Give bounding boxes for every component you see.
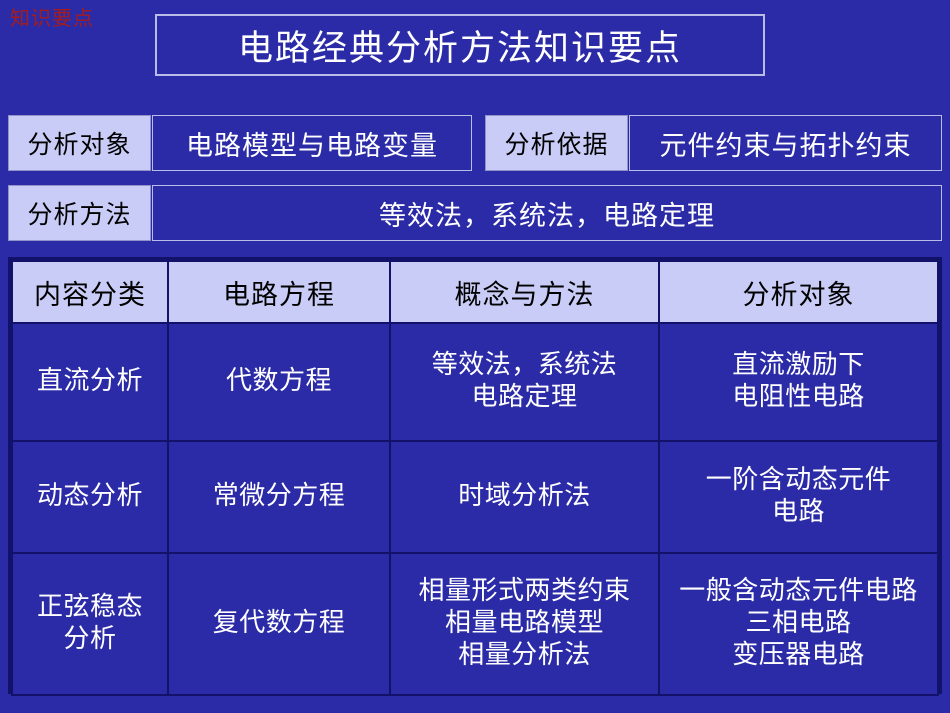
info-row-analysis-method: 分析方法 等效法，系统法，电路定理 — [8, 185, 942, 241]
cell-sinusoidal-object: 一般含动态元件电路三相电路变压器电路 — [659, 553, 938, 695]
info-label-analysis-basis: 分析依据 — [485, 115, 628, 171]
cell-line: 直流激励下 — [662, 350, 935, 382]
table-header-analysis-object: 分析对象 — [659, 261, 938, 323]
corner-tag-label: 知识要点 — [10, 6, 94, 30]
cell-line: 电路定理 — [393, 382, 656, 414]
table-header-concepts-methods: 概念与方法 — [390, 261, 659, 323]
cell-line: 电路 — [662, 497, 935, 529]
cell-dynamic-equation: 常微分方程 — [168, 441, 390, 553]
info-value-analysis-object: 电路模型与电路变量 — [152, 115, 472, 171]
cell-line: 分析 — [15, 624, 165, 656]
cell-dc-methods: 等效法，系统法电路定理 — [390, 323, 659, 441]
table-header-row: 内容分类 电路方程 概念与方法 分析对象 — [12, 261, 938, 323]
cell-dynamic-category: 动态分析 — [12, 441, 168, 553]
cell-line: 正弦稳态 — [15, 592, 165, 624]
cell-line: 三相电路 — [662, 608, 935, 640]
cell-line: 相量分析法 — [393, 640, 656, 672]
info-value-analysis-basis: 元件约束与拓扑约束 — [629, 115, 942, 171]
table-header-content-category: 内容分类 — [12, 261, 168, 323]
cell-line: 等效法，系统法 — [393, 350, 656, 382]
table-row: 正弦稳态分析 复代数方程 相量形式两类约束相量电路模型相量分析法 一般含动态元件… — [12, 553, 938, 695]
cell-line: 代数方程 — [171, 366, 387, 398]
info-row-analysis-object: 分析对象 电路模型与电路变量 分析依据 元件约束与拓扑约束 — [8, 115, 942, 171]
cell-sinusoidal-methods: 相量形式两类约束相量电路模型相量分析法 — [390, 553, 659, 695]
cell-dc-category: 直流分析 — [12, 323, 168, 441]
cell-line: 电阻性电路 — [662, 382, 935, 414]
cell-dynamic-object: 一阶含动态元件电路 — [659, 441, 938, 553]
table-row: 动态分析 常微分方程 时域分析法 一阶含动态元件电路 — [12, 441, 938, 553]
cell-line: 一阶含动态元件 — [662, 465, 935, 497]
cell-line: 动态分析 — [15, 481, 165, 513]
knowledge-table: 内容分类 电路方程 概念与方法 分析对象 直流分析 代数方程 等效法，系统法电路… — [8, 257, 942, 694]
cell-line: 时域分析法 — [393, 481, 656, 513]
info-label-analysis-object: 分析对象 — [8, 115, 151, 171]
title-box: 电路经典分析方法知识要点 — [155, 14, 765, 76]
page-title: 电路经典分析方法知识要点 — [238, 20, 682, 71]
table-row: 直流分析 代数方程 等效法，系统法电路定理 直流激励下电阻性电路 — [12, 323, 938, 441]
table-header-circuit-equation: 电路方程 — [168, 261, 390, 323]
info-value-analysis-method: 等效法，系统法，电路定理 — [152, 185, 942, 241]
cell-line: 常微分方程 — [171, 481, 387, 513]
cell-dynamic-methods: 时域分析法 — [390, 441, 659, 553]
cell-dc-equation: 代数方程 — [168, 323, 390, 441]
cell-sinusoidal-equation: 复代数方程 — [168, 553, 390, 695]
cell-line: 变压器电路 — [662, 640, 935, 672]
cell-line: 相量电路模型 — [393, 608, 656, 640]
cell-line: 一般含动态元件电路 — [662, 576, 935, 608]
info-label-analysis-method: 分析方法 — [8, 185, 151, 241]
cell-line: 复代数方程 — [171, 608, 387, 640]
cell-sinusoidal-category: 正弦稳态分析 — [12, 553, 168, 695]
cell-dc-object: 直流激励下电阻性电路 — [659, 323, 938, 441]
cell-line: 直流分析 — [15, 366, 165, 398]
cell-line: 相量形式两类约束 — [393, 576, 656, 608]
